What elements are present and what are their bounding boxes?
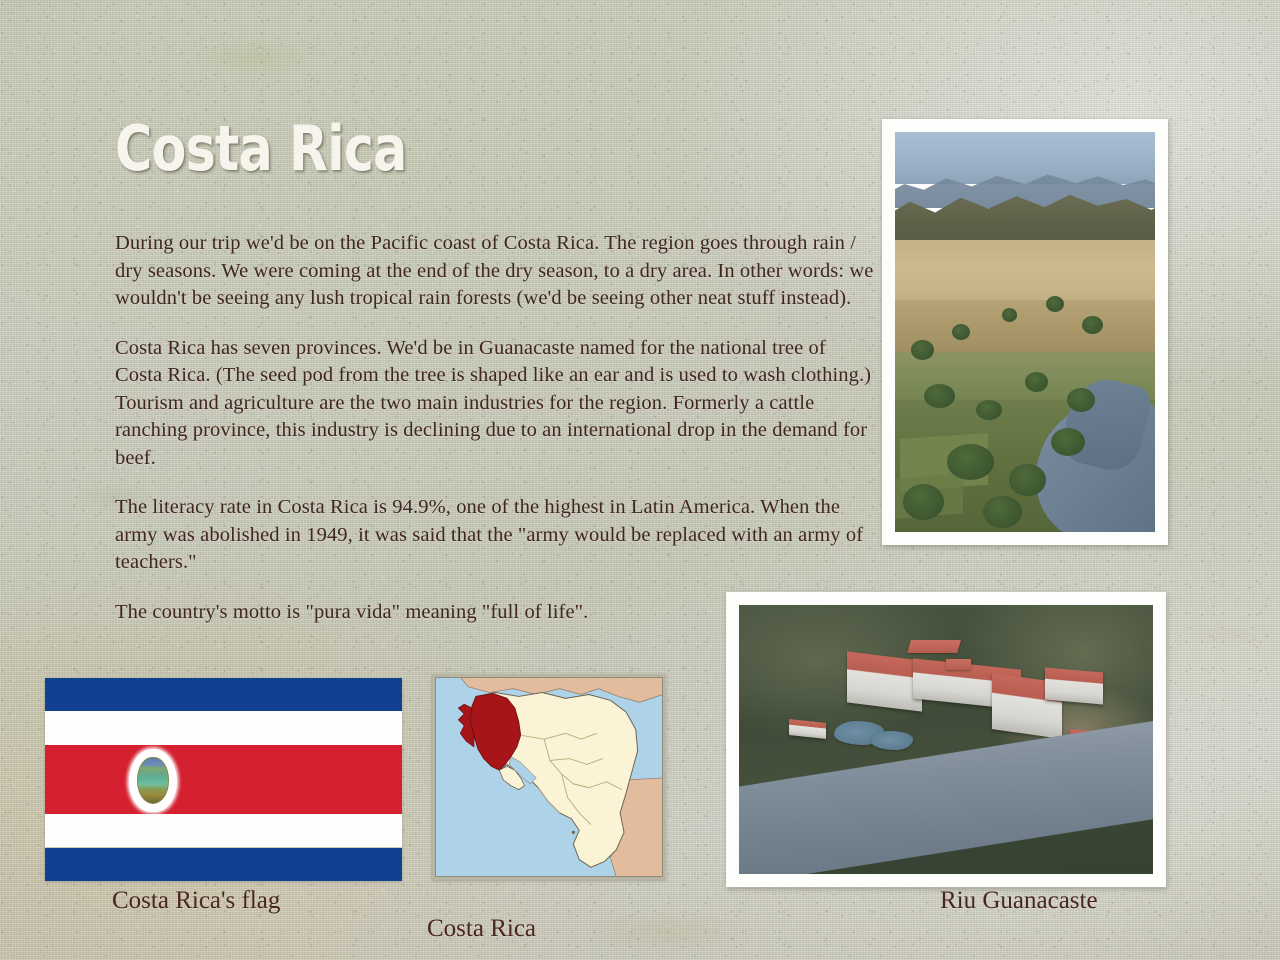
resort-pool-b bbox=[871, 731, 912, 750]
landscape-tree bbox=[976, 400, 1002, 420]
caption-map-line1: Costa Rica bbox=[427, 913, 679, 944]
landscape-tree bbox=[1067, 388, 1096, 412]
landscape-tree bbox=[1046, 296, 1064, 312]
slide-content: Costa Rica During our trip we'd be on th… bbox=[0, 0, 1280, 960]
resort-wing-far-east bbox=[1045, 667, 1103, 704]
landscape-tree bbox=[903, 484, 945, 520]
landscape-sky bbox=[895, 132, 1155, 184]
paragraph-intro: During our trip we'd be on the Pacific c… bbox=[115, 230, 877, 313]
coat-of-arms-icon bbox=[129, 749, 177, 812]
paragraph-provinces: Costa Rica has seven provinces. We'd be … bbox=[115, 335, 877, 473]
resort-artwork bbox=[739, 605, 1153, 874]
page-title: Costa Rica bbox=[115, 118, 407, 180]
caption-resort: Riu Guanacaste bbox=[940, 885, 1098, 916]
slide-canvas: Costa Rica During our trip we'd be on th… bbox=[0, 0, 1280, 960]
resort-roof-north bbox=[907, 640, 961, 653]
paragraph-literacy: The literacy rate in Costa Rica is 94.9%… bbox=[115, 494, 877, 577]
flag-stripe-white-top bbox=[45, 711, 402, 744]
resort-ocean bbox=[739, 717, 1153, 874]
landscape-tree bbox=[1009, 464, 1045, 496]
landscape-dry-plain bbox=[895, 240, 1155, 308]
flag-stripe-white-bottom bbox=[45, 814, 402, 847]
costa-rica-flag bbox=[45, 678, 402, 881]
caption-flag: Costa Rica's flag bbox=[112, 885, 280, 916]
riu-guanacaste-resort-photo bbox=[726, 592, 1166, 887]
landscape-photo-inner bbox=[895, 132, 1155, 532]
landscape-tree bbox=[911, 340, 934, 360]
landscape-artwork bbox=[895, 132, 1155, 532]
landscape-tree bbox=[1082, 316, 1103, 334]
guanacaste-landscape-photo bbox=[882, 119, 1168, 545]
map-svg bbox=[435, 677, 663, 877]
resort-wing-west bbox=[847, 652, 922, 712]
costa-rica-province-map bbox=[432, 674, 666, 880]
landscape-mid-plain bbox=[895, 300, 1155, 360]
resort-annex bbox=[789, 719, 826, 739]
resort-photo-inner bbox=[739, 605, 1153, 874]
landscape-tree bbox=[1051, 428, 1085, 456]
flag-stripe-red bbox=[45, 745, 402, 814]
coat-of-arms-emblem bbox=[137, 757, 170, 804]
map-offshore-island bbox=[572, 831, 575, 834]
landscape-tree bbox=[924, 384, 955, 408]
flag-stripe-blue-top bbox=[45, 678, 402, 711]
caption-map: Costa Rica (Guanacaste highlighted) bbox=[427, 882, 679, 960]
landscape-tree bbox=[1002, 308, 1018, 322]
flag-stripe-blue-bottom bbox=[45, 848, 402, 881]
body-copy: During our trip we'd be on the Pacific c… bbox=[115, 230, 877, 626]
resort-roof-tower bbox=[946, 659, 971, 670]
landscape-tree bbox=[947, 444, 994, 480]
